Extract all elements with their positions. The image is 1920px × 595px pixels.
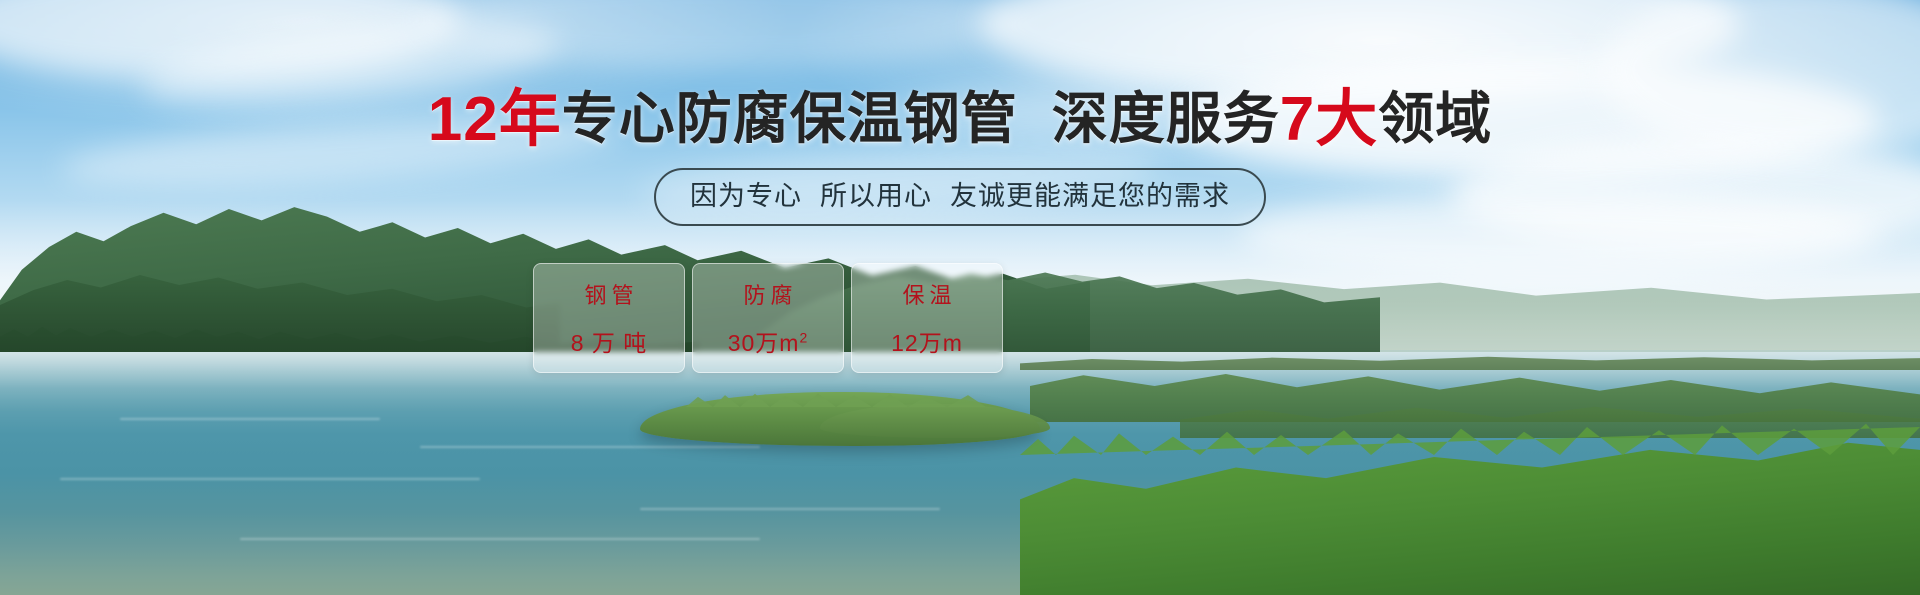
headline-service: 深度服务 bbox=[1052, 87, 1280, 150]
stat-value-text: 8 万 吨 bbox=[571, 330, 648, 356]
headline-fields-count: 7大 bbox=[1280, 85, 1378, 154]
stat-card-label: 钢管 bbox=[579, 278, 638, 310]
stat-card-insulation[interactable]: 保温 12万m bbox=[851, 263, 1003, 373]
stat-card-value: 30万m2 bbox=[728, 324, 809, 358]
stat-card-label: 保温 bbox=[897, 278, 956, 310]
slogan-part-2: 所以用心 bbox=[820, 181, 932, 211]
stat-card-anticorrosion[interactable]: 防腐 30万m2 bbox=[692, 263, 844, 373]
banner-headline: 12年专心防腐保温钢管深度服务7大领域 bbox=[0, 88, 1920, 151]
hero-banner: 12年专心防腐保温钢管深度服务7大领域 因为专心所以用心友诚更能满足您的需求 钢… bbox=[0, 0, 1920, 595]
headline-years: 12年 bbox=[428, 85, 562, 154]
headline-middle: 专心防腐保温钢管 bbox=[562, 87, 1018, 150]
stat-value-text: 12万m bbox=[891, 330, 963, 356]
stat-value-superscript: 2 bbox=[799, 329, 808, 345]
stat-card-value: 8 万 吨 bbox=[571, 324, 648, 358]
stat-card-steel-pipe[interactable]: 钢管 8 万 吨 bbox=[533, 263, 685, 373]
stat-card-label: 防腐 bbox=[738, 278, 797, 310]
banner-content: 12年专心防腐保温钢管深度服务7大领域 因为专心所以用心友诚更能满足您的需求 钢… bbox=[0, 0, 1920, 595]
headline-tail: 领域 bbox=[1378, 87, 1492, 150]
stat-card-group: 钢管 8 万 吨 防腐 30万m2 保温 12万m bbox=[533, 263, 1003, 373]
slogan-part-1: 因为专心 bbox=[690, 181, 802, 211]
slogan-pill: 因为专心所以用心友诚更能满足您的需求 bbox=[654, 168, 1266, 226]
stat-card-value: 12万m bbox=[891, 324, 963, 358]
slogan-part-3: 友诚更能满足您的需求 bbox=[950, 181, 1230, 211]
stat-value-text: 30万m bbox=[728, 330, 800, 356]
